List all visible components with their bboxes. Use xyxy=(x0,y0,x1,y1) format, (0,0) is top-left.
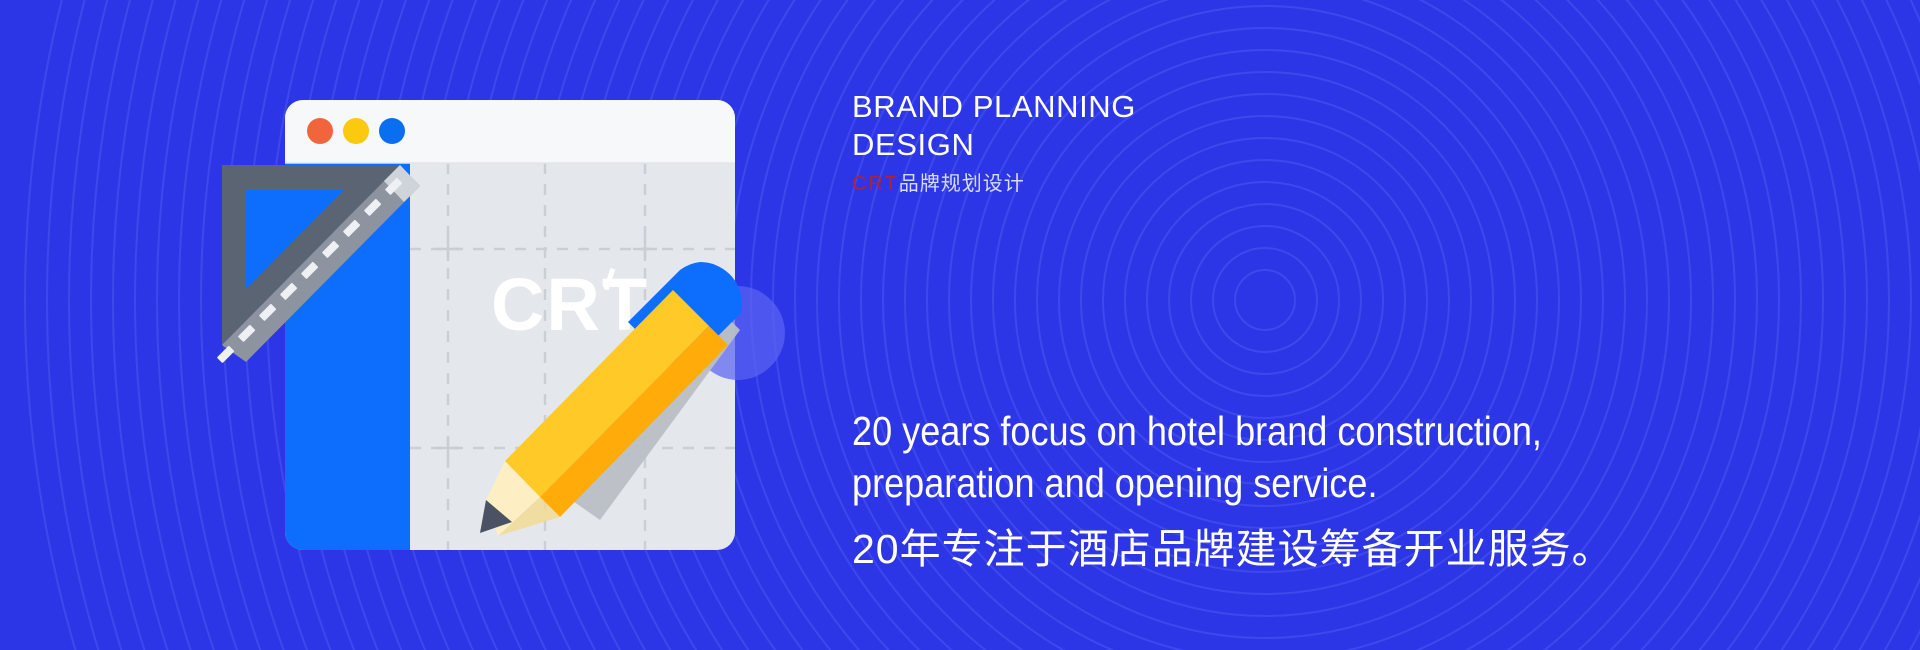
headline-group: 20 years focus on hotel brand constructi… xyxy=(852,405,1852,575)
close-dot[interactable] xyxy=(307,118,333,144)
minimize-dot[interactable] xyxy=(343,118,369,144)
eyebrow-english: BRAND PLANNING DESIGN xyxy=(852,88,1136,164)
canvas-crt-logo-text: CRT xyxy=(491,263,649,346)
eyebrow-chinese: CRT品牌规划设计 xyxy=(852,171,1136,197)
headline-english: 20 years focus on hotel brand constructi… xyxy=(852,405,1732,509)
maximize-dot[interactable] xyxy=(379,118,405,144)
brand-banner: CRT xyxy=(0,0,1920,650)
brand-mark-crt: CRT xyxy=(852,173,899,195)
eyebrow-chinese-text: 品牌规划设计 xyxy=(899,173,1025,195)
copy-block: BRAND PLANNING DESIGN CRT品牌规划设计 20 years… xyxy=(852,0,1920,650)
eyebrow-group: BRAND PLANNING DESIGN CRT品牌规划设计 xyxy=(852,88,1136,197)
brand-design-illustration: CRT xyxy=(0,0,900,650)
canvas-crt-logo: CRT xyxy=(491,263,649,346)
headline-chinese: 20年专注于酒店品牌建设筹备开业服务。 xyxy=(852,523,1852,575)
